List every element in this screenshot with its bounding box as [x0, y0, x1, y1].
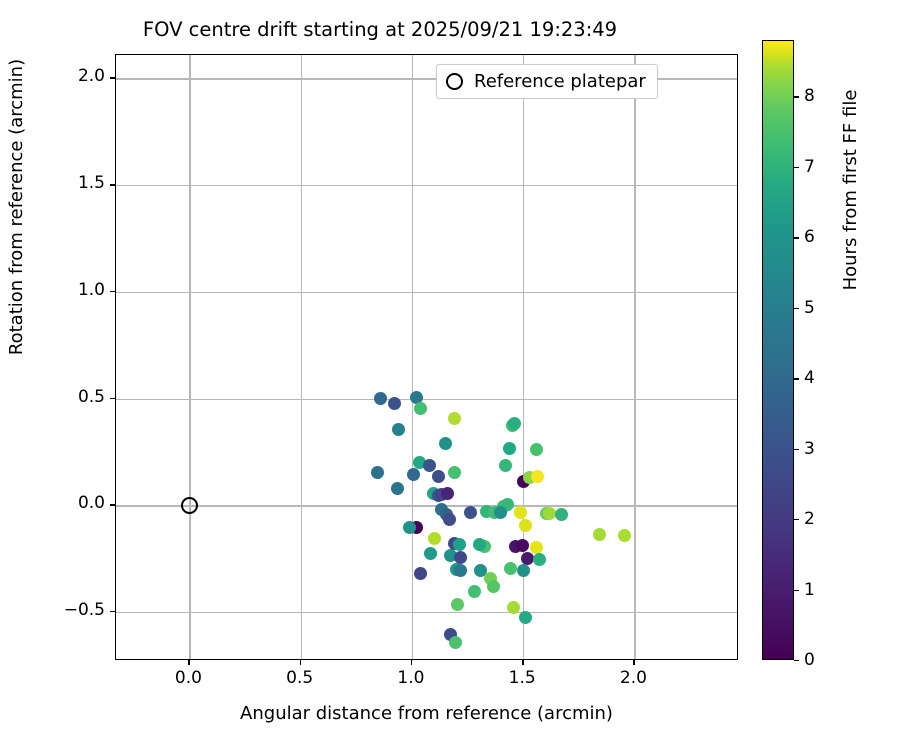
scatter-point — [388, 397, 401, 410]
scatter-point — [503, 442, 516, 455]
colorbar-tick-mark — [794, 449, 799, 450]
reference-platepar-marker-icon — [446, 73, 463, 90]
scatter-point — [391, 482, 404, 495]
scatter-point — [428, 532, 441, 545]
scatter-point — [441, 487, 454, 500]
x-tick-label: 1.0 — [371, 668, 451, 688]
scatter-point — [371, 466, 384, 479]
x-tick-mark — [411, 660, 412, 665]
gridline-horizontal — [116, 612, 737, 613]
gridline-vertical — [301, 55, 302, 659]
scatter-point — [414, 402, 427, 415]
colorbar-tick-mark — [794, 590, 799, 591]
y-tick-label: 0.0 — [5, 493, 105, 513]
x-tick-mark — [300, 660, 301, 665]
y-tick-mark — [110, 184, 115, 185]
scatter-point — [453, 538, 466, 551]
scatter-point — [517, 564, 530, 577]
y-tick-mark — [110, 398, 115, 399]
colorbar-tick-label: 3 — [804, 439, 815, 459]
scatter-point — [448, 412, 461, 425]
x-tick-mark — [522, 660, 523, 665]
y-tick-mark — [110, 77, 115, 78]
scatter-point — [494, 506, 507, 519]
scatter-point — [516, 539, 529, 552]
scatter-point — [533, 553, 546, 566]
y-tick-mark — [110, 611, 115, 612]
scatter-point — [530, 443, 543, 456]
reference-platepar-point — [181, 497, 198, 514]
gridline-horizontal — [116, 505, 737, 506]
figure-canvas: FOV centre drift starting at 2025/09/21 … — [0, 0, 900, 750]
x-axis-label: Angular distance from reference (arcmin) — [115, 703, 738, 724]
legend-item-label: Reference platepar — [474, 71, 646, 92]
colorbar-tick-mark — [794, 519, 799, 520]
gridline-vertical — [634, 55, 635, 659]
scatter-point — [464, 506, 477, 519]
scatter-point — [392, 423, 405, 436]
colorbar-tick-mark — [794, 167, 799, 168]
scatter-point — [519, 611, 532, 624]
x-tick-label: 2.0 — [593, 668, 673, 688]
scatter-point — [449, 636, 462, 649]
x-tick-mark — [188, 660, 189, 665]
scatter-point — [593, 528, 606, 541]
scatter-point — [504, 562, 517, 575]
y-tick-label: 0.5 — [5, 387, 105, 407]
scatter-point — [454, 564, 467, 577]
scatter-point — [448, 466, 461, 479]
x-tick-label: 0.5 — [260, 668, 340, 688]
gridline-vertical — [412, 55, 413, 659]
colorbar-tick-mark — [794, 96, 799, 97]
colorbar-tick-mark — [794, 378, 799, 379]
scatter-point — [499, 459, 512, 472]
colorbar-tick-label: 4 — [804, 368, 815, 388]
gridline-horizontal — [116, 399, 737, 400]
scatter-point — [508, 417, 521, 430]
colorbar-tick-mark — [794, 660, 799, 661]
scatter-point — [407, 468, 420, 481]
scatter-point — [514, 506, 527, 519]
gridline-horizontal — [116, 185, 737, 186]
legend[interactable]: Reference platepar — [436, 64, 658, 99]
gridline-vertical — [189, 55, 190, 659]
y-axis-label: Rotation from reference (arcmin) — [6, 57, 27, 357]
scatter-point — [374, 392, 387, 405]
x-tick-label: 0.0 — [148, 668, 228, 688]
scatter-point — [451, 598, 464, 611]
page-title: FOV centre drift starting at 2025/09/21 … — [0, 18, 760, 41]
y-tick-mark — [110, 291, 115, 292]
scatter-point — [468, 585, 481, 598]
y-tick-mark — [110, 504, 115, 505]
scatter-point — [414, 567, 427, 580]
colorbar-tick-label: 5 — [804, 298, 815, 318]
gridline-horizontal — [116, 292, 737, 293]
colorbar-tick-label: 7 — [804, 157, 815, 177]
scatter-point — [507, 601, 520, 614]
y-tick-label: −0.5 — [5, 600, 105, 620]
colorbar-tick-label: 0 — [804, 650, 815, 670]
colorbar-tick-mark — [794, 308, 799, 309]
scatter-point — [432, 470, 445, 483]
scatter-point — [555, 508, 568, 521]
colorbar-label: Hours from first FF file — [840, 30, 861, 350]
colorbar-tick-label: 2 — [804, 509, 815, 529]
scatter-point — [519, 519, 532, 532]
colorbar-tick-mark — [794, 237, 799, 238]
scatter-point — [443, 513, 456, 526]
scatter-point — [424, 547, 437, 560]
colorbar-tick-label: 8 — [804, 86, 815, 106]
colorbar-tick-label: 1 — [804, 580, 815, 600]
scatter-point — [487, 580, 500, 593]
scatter-point — [618, 529, 631, 542]
colorbar[interactable] — [762, 40, 794, 660]
scatter-point — [531, 470, 544, 483]
colorbar-gradient — [762, 40, 794, 660]
scatter-point — [439, 437, 452, 450]
x-tick-label: 1.5 — [482, 668, 562, 688]
x-tick-mark — [633, 660, 634, 665]
plot-area — [115, 54, 738, 660]
colorbar-tick-label: 6 — [804, 227, 815, 247]
